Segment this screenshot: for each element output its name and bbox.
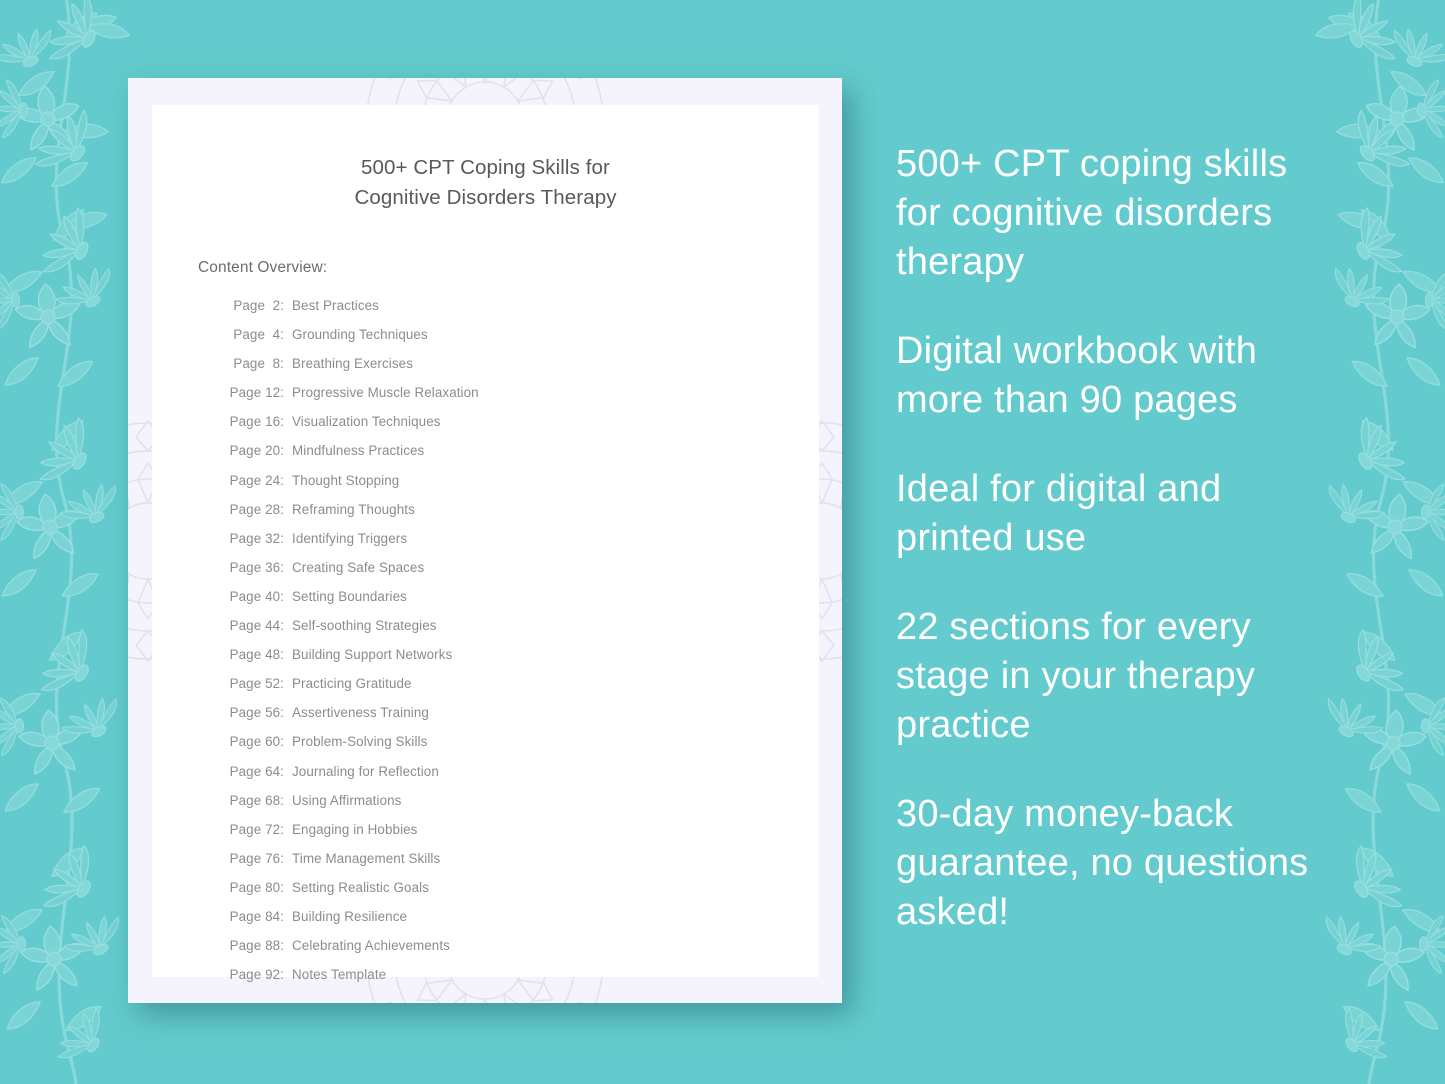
- toc-item: Page 36:Creating Safe Spaces: [222, 559, 819, 576]
- toc-item-page: Page 88:: [222, 937, 284, 954]
- workbook-page-sheet: 500+ CPT Coping Skills for Cognitive Dis…: [152, 105, 819, 977]
- toc-item: Page 12:Progressive Muscle Relaxation: [222, 384, 819, 401]
- toc-item-title: Grounding Techniques: [292, 326, 428, 343]
- toc-item-page: Page 8:: [222, 355, 284, 372]
- toc-item: Page 72:Engaging in Hobbies: [222, 821, 819, 838]
- toc-item-title: Best Practices: [292, 297, 379, 314]
- page-title: 500+ CPT Coping Skills for Cognitive Dis…: [152, 153, 819, 213]
- toc-item: Page 16:Visualization Techniques: [222, 413, 819, 430]
- toc-item: Page 84:Building Resilience: [222, 908, 819, 925]
- toc-item-page: Page 32:: [222, 530, 284, 547]
- toc-item-title: Setting Boundaries: [292, 588, 407, 605]
- toc-item-page: Page 72:: [222, 821, 284, 838]
- toc-item-title: Progressive Muscle Relaxation: [292, 384, 479, 401]
- toc-item-page: Page 12:: [222, 384, 284, 401]
- toc-item-title: Using Affirmations: [292, 792, 401, 809]
- toc-item: Page 24:Thought Stopping: [222, 472, 819, 489]
- toc-item-page: Page 80:: [222, 879, 284, 896]
- marketing-line: 30-day money-back guarantee, no question…: [896, 790, 1336, 937]
- toc-item-title: Practicing Gratitude: [292, 675, 412, 692]
- toc-item-page: Page 76:: [222, 850, 284, 867]
- toc-item: Page 28:Reframing Thoughts: [222, 501, 819, 518]
- toc-item-page: Page 28:: [222, 501, 284, 518]
- toc-item: Page 20:Mindfulness Practices: [222, 442, 819, 459]
- toc-item: Page 2:Best Practices: [222, 297, 819, 314]
- toc-item-page: Page 84:: [222, 908, 284, 925]
- page-title-line-2: Cognitive Disorders Therapy: [354, 186, 616, 209]
- toc-item-page: Page 4:: [222, 326, 284, 343]
- toc-item-page: Page 36:: [222, 559, 284, 576]
- toc-item-title: Assertiveness Training: [292, 704, 429, 721]
- product-preview-card: 500+ CPT Coping Skills for Cognitive Dis…: [128, 78, 842, 1003]
- floral-vine-icon: [0, 0, 142, 1084]
- marketing-line: Digital workbook with more than 90 pages: [896, 327, 1336, 425]
- page-title-line-1: 500+ CPT Coping Skills for: [361, 156, 610, 179]
- toc-item-title: Journaling for Reflection: [292, 763, 439, 780]
- content-overview-label: Content Overview:: [198, 259, 819, 277]
- toc-item-page: Page 40:: [222, 588, 284, 605]
- marketing-bullets: 500+ CPT coping skills for cognitive dis…: [896, 140, 1336, 977]
- toc-item: Page 48:Building Support Networks: [222, 646, 819, 663]
- toc-item-page: Page 20:: [222, 442, 284, 459]
- toc-item-title: Celebrating Achievements: [292, 937, 450, 954]
- toc-item-title: Building Support Networks: [292, 646, 452, 663]
- toc-item-title: Mindfulness Practices: [292, 442, 424, 459]
- toc-item: Page 80:Setting Realistic Goals: [222, 879, 819, 896]
- toc-item-page: Page 16:: [222, 413, 284, 430]
- toc-item-title: Thought Stopping: [292, 472, 399, 489]
- toc-item-title: Engaging in Hobbies: [292, 821, 417, 838]
- table-of-contents-list: Page 2:Best PracticesPage 4:Grounding Te…: [222, 297, 819, 983]
- toc-item-title: Creating Safe Spaces: [292, 559, 424, 576]
- marketing-line: 500+ CPT coping skills for cognitive dis…: [896, 140, 1336, 287]
- toc-item: Page 68:Using Affirmations: [222, 792, 819, 809]
- toc-item-page: Page 64:: [222, 763, 284, 780]
- toc-item: Page 52:Practicing Gratitude: [222, 675, 819, 692]
- toc-item-page: Page 24:: [222, 472, 284, 489]
- toc-item-page: Page 48:: [222, 646, 284, 663]
- marketing-line: Ideal for digital and printed use: [896, 465, 1336, 563]
- toc-item-title: Problem-Solving Skills: [292, 733, 427, 750]
- toc-item-page: Page 60:: [222, 733, 284, 750]
- toc-item: Page 40:Setting Boundaries: [222, 588, 819, 605]
- toc-item: Page 8:Breathing Exercises: [222, 355, 819, 372]
- marketing-line: 22 sections for every stage in your ther…: [896, 603, 1336, 750]
- toc-item-page: Page 44:: [222, 617, 284, 634]
- toc-item: Page 92:Notes Template: [222, 966, 819, 983]
- toc-item: Page 60:Problem-Solving Skills: [222, 733, 819, 750]
- toc-item-title: Setting Realistic Goals: [292, 879, 429, 896]
- toc-item: Page 4:Grounding Techniques: [222, 326, 819, 343]
- toc-item-title: Identifying Triggers: [292, 530, 407, 547]
- toc-item: Page 64:Journaling for Reflection: [222, 763, 819, 780]
- toc-item: Page 76:Time Management Skills: [222, 850, 819, 867]
- toc-item: Page 88:Celebrating Achievements: [222, 937, 819, 954]
- toc-item-title: Visualization Techniques: [292, 413, 441, 430]
- toc-item-page: Page 56:: [222, 704, 284, 721]
- toc-item-title: Reframing Thoughts: [292, 501, 415, 518]
- toc-item-title: Building Resilience: [292, 908, 407, 925]
- toc-item-title: Time Management Skills: [292, 850, 440, 867]
- toc-item-page: Page 92:: [222, 966, 284, 983]
- toc-item-title: Notes Template: [292, 966, 386, 983]
- toc-item: Page 56:Assertiveness Training: [222, 704, 819, 721]
- toc-item-page: Page 52:: [222, 675, 284, 692]
- toc-item-title: Self-soothing Strategies: [292, 617, 437, 634]
- toc-item-title: Breathing Exercises: [292, 355, 413, 372]
- toc-item: Page 32:Identifying Triggers: [222, 530, 819, 547]
- toc-item: Page 44:Self-soothing Strategies: [222, 617, 819, 634]
- toc-item-page: Page 68:: [222, 792, 284, 809]
- toc-item-page: Page 2:: [222, 297, 284, 314]
